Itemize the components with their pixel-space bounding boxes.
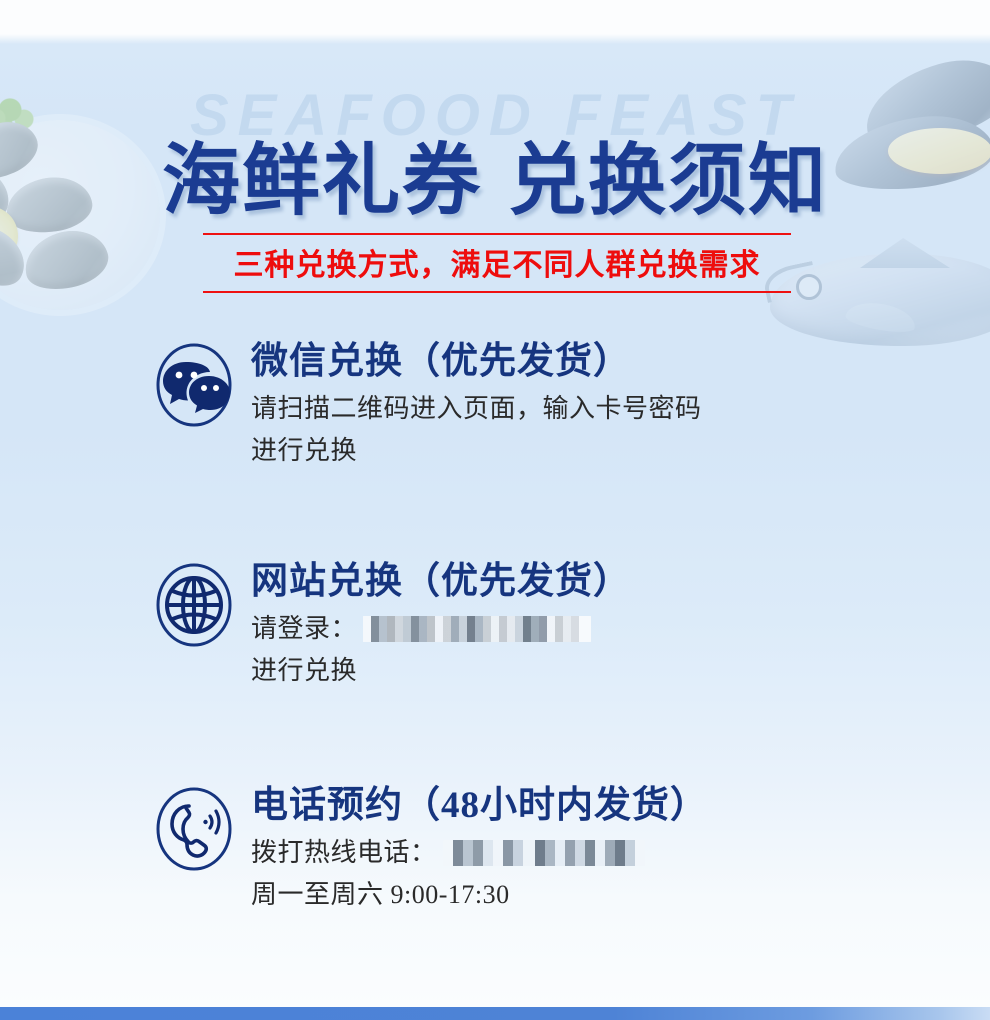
- website-text-block: 网站兑换（优先发货） 请登录： 进行兑换: [251, 562, 955, 692]
- redemption-method-phone: 电话预约（48小时内发货） 拨打热线电话： 周一至周六 9:00-17:30: [155, 786, 955, 916]
- fish-eye: [796, 274, 822, 300]
- shell-shape: [18, 223, 113, 298]
- wechat-line-1: 请扫描二维码进入页面，输入卡号密码: [251, 388, 955, 430]
- fish-pectoral-fin: [844, 298, 917, 336]
- redemption-method-website: 网站兑换（优先发货） 请登录： 进行兑换: [155, 562, 955, 692]
- hotline-label: 拨打热线电话：: [251, 832, 437, 874]
- redacted-hotline-number: [443, 840, 645, 866]
- phone-heading: 电话预约（48小时内发货）: [251, 786, 955, 826]
- wechat-icon: [155, 342, 233, 428]
- page-title-part-1: 海鲜礼券: [162, 137, 482, 224]
- wechat-text-block: 微信兑换（优先发货） 请扫描二维码进入页面，输入卡号密码 进行兑换: [251, 342, 955, 472]
- seafood-voucher-redemption-poster: SEAFOOD FEAST 海鲜礼券兑换须知 三种兑换方式，满足不同人群兑换需求…: [0, 0, 990, 1020]
- fish-dorsal-fin: [860, 238, 950, 268]
- wechat-heading: 微信兑换（优先发货）: [251, 342, 955, 382]
- fish-body: [770, 254, 990, 346]
- website-login-label: 请登录：: [251, 608, 357, 650]
- redemption-method-wechat: 微信兑换（优先发货） 请扫描二维码进入页面，输入卡号密码 进行兑换: [155, 342, 955, 472]
- page-title-part-2: 兑换须知: [508, 137, 828, 224]
- website-heading: 网站兑换（优先发货）: [251, 562, 955, 602]
- globe-icon: [155, 562, 233, 648]
- subtitle-banner: 三种兑换方式，满足不同人群兑换需求: [203, 233, 791, 293]
- website-line-1: 请登录：: [251, 608, 955, 650]
- phone-line-1: 拨打热线电话：: [251, 832, 955, 874]
- bottom-accent-bar: [0, 1007, 990, 1020]
- phone-text-block: 电话预约（48小时内发货） 拨打热线电话： 周一至周六 9:00-17:30: [251, 786, 955, 916]
- website-line-2: 进行兑换: [251, 650, 955, 692]
- wechat-line-2: 进行兑换: [251, 430, 955, 472]
- subtitle-text: 三种兑换方式，满足不同人群兑换需求: [203, 240, 791, 284]
- page-title: 海鲜礼券兑换须知: [0, 118, 990, 230]
- phone-line-2: 周一至周六 9:00-17:30: [251, 874, 955, 916]
- redacted-website-url: [363, 616, 591, 642]
- phone-icon: [155, 786, 233, 872]
